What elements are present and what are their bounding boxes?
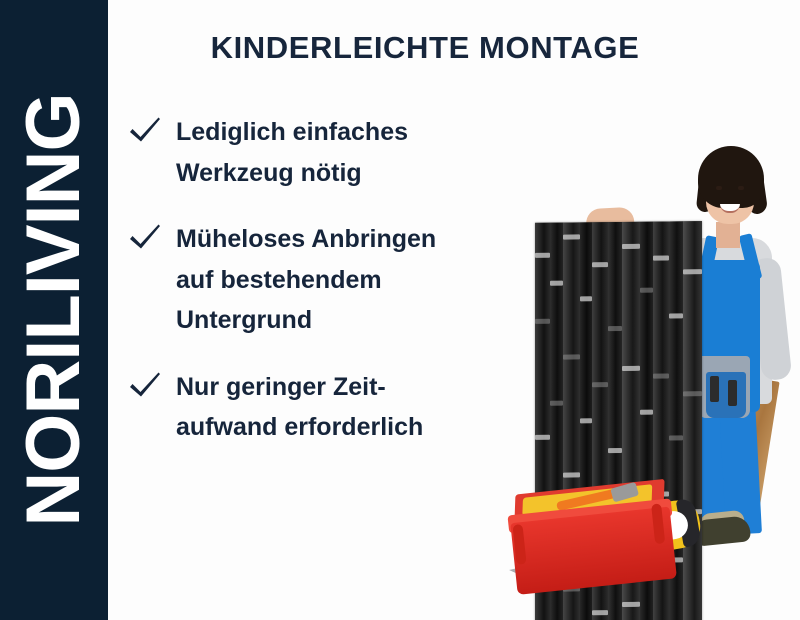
brand-name: NORILIVING bbox=[16, 93, 92, 526]
list-item: Müheloses Anbringen auf bestehendem Unte… bbox=[128, 219, 518, 341]
eye-left bbox=[716, 186, 722, 190]
list-item-text: Nur geringer Zeit- aufwand erforderlich bbox=[176, 367, 518, 448]
list-item-line: Lediglich einfaches bbox=[176, 112, 518, 153]
product-photo bbox=[490, 110, 800, 620]
red-toolbox bbox=[507, 471, 693, 599]
pouch-tool bbox=[710, 376, 719, 402]
list-item-text: Müheloses Anbringen auf bestehendem Unte… bbox=[176, 219, 518, 341]
list-item-line: aufwand erforderlich bbox=[176, 407, 518, 448]
list-item: Lediglich einfaches Werkzeug nötig bbox=[128, 112, 518, 193]
list-item-line: Werkzeug nötig bbox=[176, 153, 518, 194]
checkmark-icon bbox=[128, 369, 162, 403]
hair bbox=[698, 146, 764, 208]
checkmark-icon bbox=[128, 221, 162, 255]
checkmark-icon bbox=[128, 114, 162, 148]
eye-right bbox=[738, 186, 744, 190]
page-title: KINDERLEICHTE MONTAGE bbox=[110, 30, 740, 66]
promo-banner: NORILIVING KINDERLEICHTE MONTAGE Ledigli… bbox=[0, 0, 800, 620]
pouch-tool bbox=[728, 380, 737, 406]
list-item-text: Lediglich einfaches Werkzeug nötig bbox=[176, 112, 518, 193]
list-item-line: Müheloses Anbringen bbox=[176, 219, 518, 260]
neck bbox=[716, 222, 740, 248]
list-item-line: Untergrund bbox=[176, 300, 518, 341]
list-item-line: Nur geringer Zeit- bbox=[176, 367, 518, 408]
list-item-line: auf bestehendem bbox=[176, 260, 518, 301]
list-item: Nur geringer Zeit- aufwand erforderlich bbox=[128, 367, 518, 448]
feature-list: Lediglich einfaches Werkzeug nötig Mühel… bbox=[128, 112, 518, 474]
brand-sidebar: NORILIVING bbox=[0, 0, 108, 620]
